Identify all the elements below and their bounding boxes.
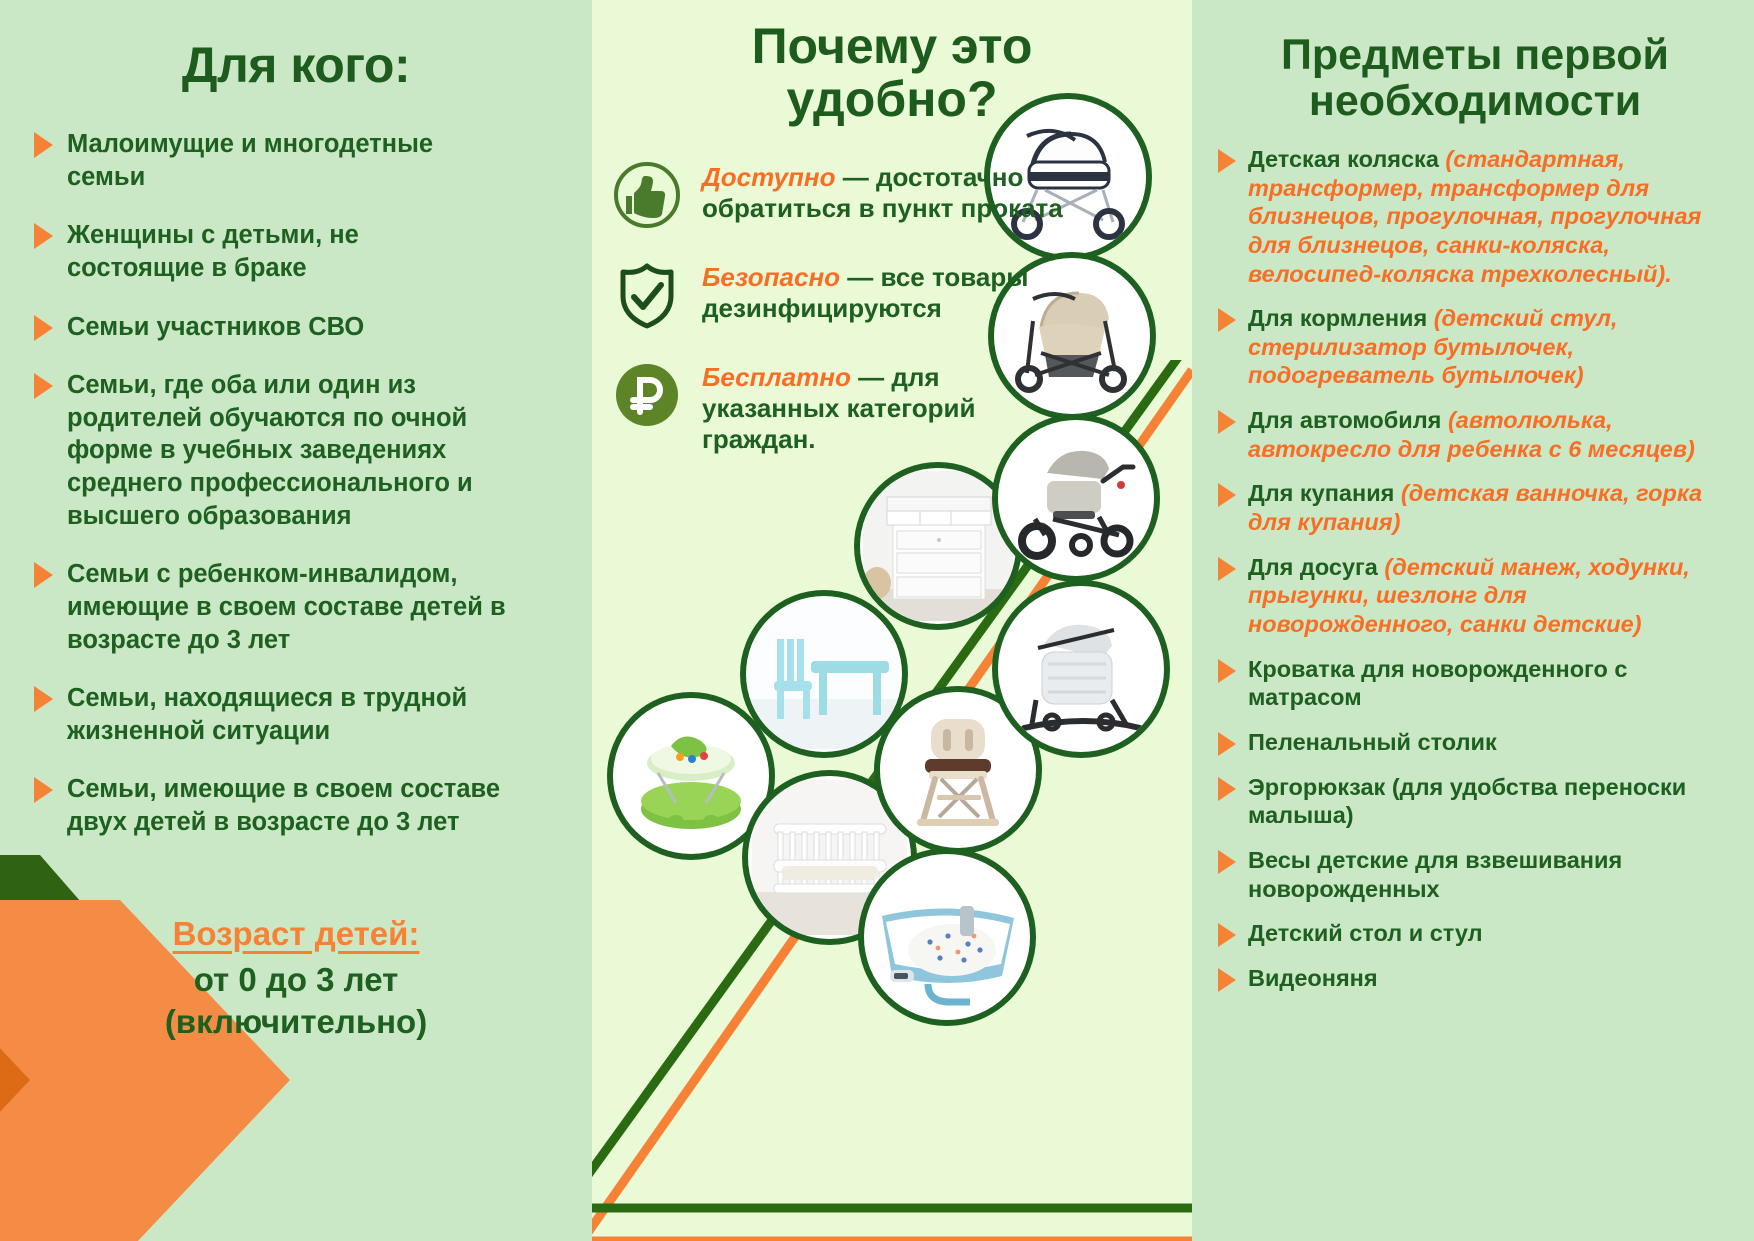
triangle-bullet-icon — [1218, 149, 1236, 173]
list-item-label: Для купания (детская ванночка, горка для… — [1248, 479, 1732, 536]
right-column-title: Предметы первой необходимости — [1218, 32, 1732, 125]
list-item-label: Весы детские для взвешивания новорожденн… — [1248, 846, 1732, 903]
list-item-label: Кроватка для новорожденного с матрасом — [1248, 655, 1732, 712]
list-item-label: Пеленальный столик — [1248, 728, 1497, 757]
eligibility-list: Малоимущие и многодетные семьи Женщины с… — [34, 128, 558, 839]
list-item: Для купания (детская ванночка, горка для… — [1218, 479, 1732, 536]
list-item-label: Видеоняня — [1248, 964, 1378, 993]
baby-bathtub-photo — [858, 848, 1036, 1026]
triangle-bullet-icon — [1218, 850, 1236, 874]
right-column: Предметы первой необходимости Детская ко… — [1192, 0, 1754, 1241]
triangle-bullet-icon — [1218, 483, 1236, 507]
benefit-label-safe: Безопасно — все товары дезинфицируются — [702, 258, 1122, 324]
list-item-label: Детская коляска (стандартная, трансформе… — [1248, 145, 1732, 288]
triangle-bullet-icon — [1218, 732, 1236, 756]
triangle-bullet-icon — [1218, 777, 1236, 801]
age-requirement-block: Возраст детей: от 0 до 3 лет (включитель… — [0, 915, 592, 1043]
list-item: Женщины с детьми, не состоящие в браке — [34, 219, 558, 284]
list-item: Для автомобиля (автолюлька, автокресло д… — [1218, 406, 1732, 463]
list-item: Семьи, имеющие в своем составе двух дете… — [34, 773, 558, 838]
triangle-bullet-icon — [34, 777, 53, 803]
list-item: Детский стол и стул — [1218, 919, 1732, 948]
list-item-label: Семьи, где оба или один из родителей обу… — [67, 369, 537, 532]
triangle-bullet-icon — [34, 686, 53, 712]
list-item: Эргорюкзак (для удобства переноски малыш… — [1218, 773, 1732, 830]
infographic-poster: Для кого: Малоимущие и многодетные семьи… — [0, 0, 1754, 1241]
benefits-list: Доступно — достотачно обратиться в пункт… — [602, 158, 1182, 456]
benefit-item-available: Доступно — достотачно обратиться в пункт… — [602, 158, 1182, 232]
list-item-label: Семьи, находящиеся в трудной жизненной с… — [67, 682, 517, 747]
list-item: Кроватка для новорожденного с матрасом — [1218, 655, 1732, 712]
left-column-title: Для кого: — [34, 36, 558, 94]
triangle-bullet-icon — [1218, 659, 1236, 683]
triangle-bullet-icon — [1218, 557, 1236, 581]
triangle-bullet-icon — [1218, 923, 1236, 947]
benefit-label-available: Доступно — достотачно обратиться в пункт… — [702, 158, 1132, 224]
thumbs-up-icon — [610, 158, 684, 232]
list-item-label: Семьи с ребенком-инвалидом, имеющие в св… — [67, 558, 558, 656]
list-item: Пеленальный столик — [1218, 728, 1732, 757]
left-column: Для кого: Малоимущие и многодетные семьи… — [0, 0, 592, 1241]
list-item-label: Эргорюкзак (для удобства переноски малыш… — [1248, 773, 1732, 830]
age-requirement-line1: от 0 до 3 лет — [0, 959, 592, 1001]
triangle-bullet-icon — [34, 223, 53, 249]
list-item-label: Семьи, имеющие в своем составе двух дете… — [67, 773, 558, 838]
list-item-label: Семьи участников СВО — [67, 311, 364, 344]
list-item: Видеоняня — [1218, 964, 1732, 993]
benefit-item-free: Бесплатно — для указанных категорий граж… — [602, 358, 1182, 456]
benefit-item-safe: Безопасно — все товары дезинфицируются — [602, 258, 1182, 332]
list-item-label: Малоимущие и многодетные семьи — [67, 128, 487, 193]
age-requirement-title: Возраст детей: — [0, 915, 592, 953]
sled-stroller-photo — [992, 580, 1170, 758]
triangle-bullet-icon — [1218, 410, 1236, 434]
essentials-list: Детская коляска (стандартная, трансформе… — [1218, 145, 1732, 993]
list-item: Детская коляска (стандартная, трансформе… — [1218, 145, 1732, 288]
list-item: Для досуга (детский манеж, ходунки, прыг… — [1218, 553, 1732, 639]
list-item-label: Детский стол и стул — [1248, 919, 1483, 948]
triangle-bullet-icon — [1218, 968, 1236, 992]
list-item: Для кормления (детский стул, стерилизато… — [1218, 304, 1732, 390]
list-item: Семьи с ребенком-инвалидом, имеющие в св… — [34, 558, 558, 656]
list-item: Семьи, где оба или один из родителей обу… — [34, 369, 558, 532]
list-item: Семьи участников СВО — [34, 311, 558, 344]
list-item: Малоимущие и многодетные семьи — [34, 128, 558, 193]
list-item-label: Женщины с детьми, не состоящие в браке — [67, 219, 407, 284]
list-item-label: Для досуга (детский манеж, ходунки, прыг… — [1248, 553, 1732, 639]
benefit-label-free: Бесплатно — для указанных категорий граж… — [702, 358, 1062, 456]
list-item-label: Для кормления (детский стул, стерилизато… — [1248, 304, 1732, 390]
age-requirement-line2: (включительно) — [0, 1001, 592, 1043]
list-item-label: Для автомобиля (автолюлька, автокресло д… — [1248, 406, 1732, 463]
list-item: Весы детские для взвешивания новорожденн… — [1218, 846, 1732, 903]
shield-check-icon — [610, 258, 684, 332]
triangle-bullet-icon — [34, 132, 53, 158]
triangle-bullet-icon — [34, 562, 53, 588]
middle-column: Почему это удобно? Доступно — достотачно… — [592, 0, 1192, 1241]
triangle-bullet-icon — [34, 373, 53, 399]
triangle-bullet-icon — [34, 315, 53, 341]
list-item: Семьи, находящиеся в трудной жизненной с… — [34, 682, 558, 747]
triangle-bullet-icon — [1218, 308, 1236, 332]
ruble-icon — [610, 358, 684, 432]
